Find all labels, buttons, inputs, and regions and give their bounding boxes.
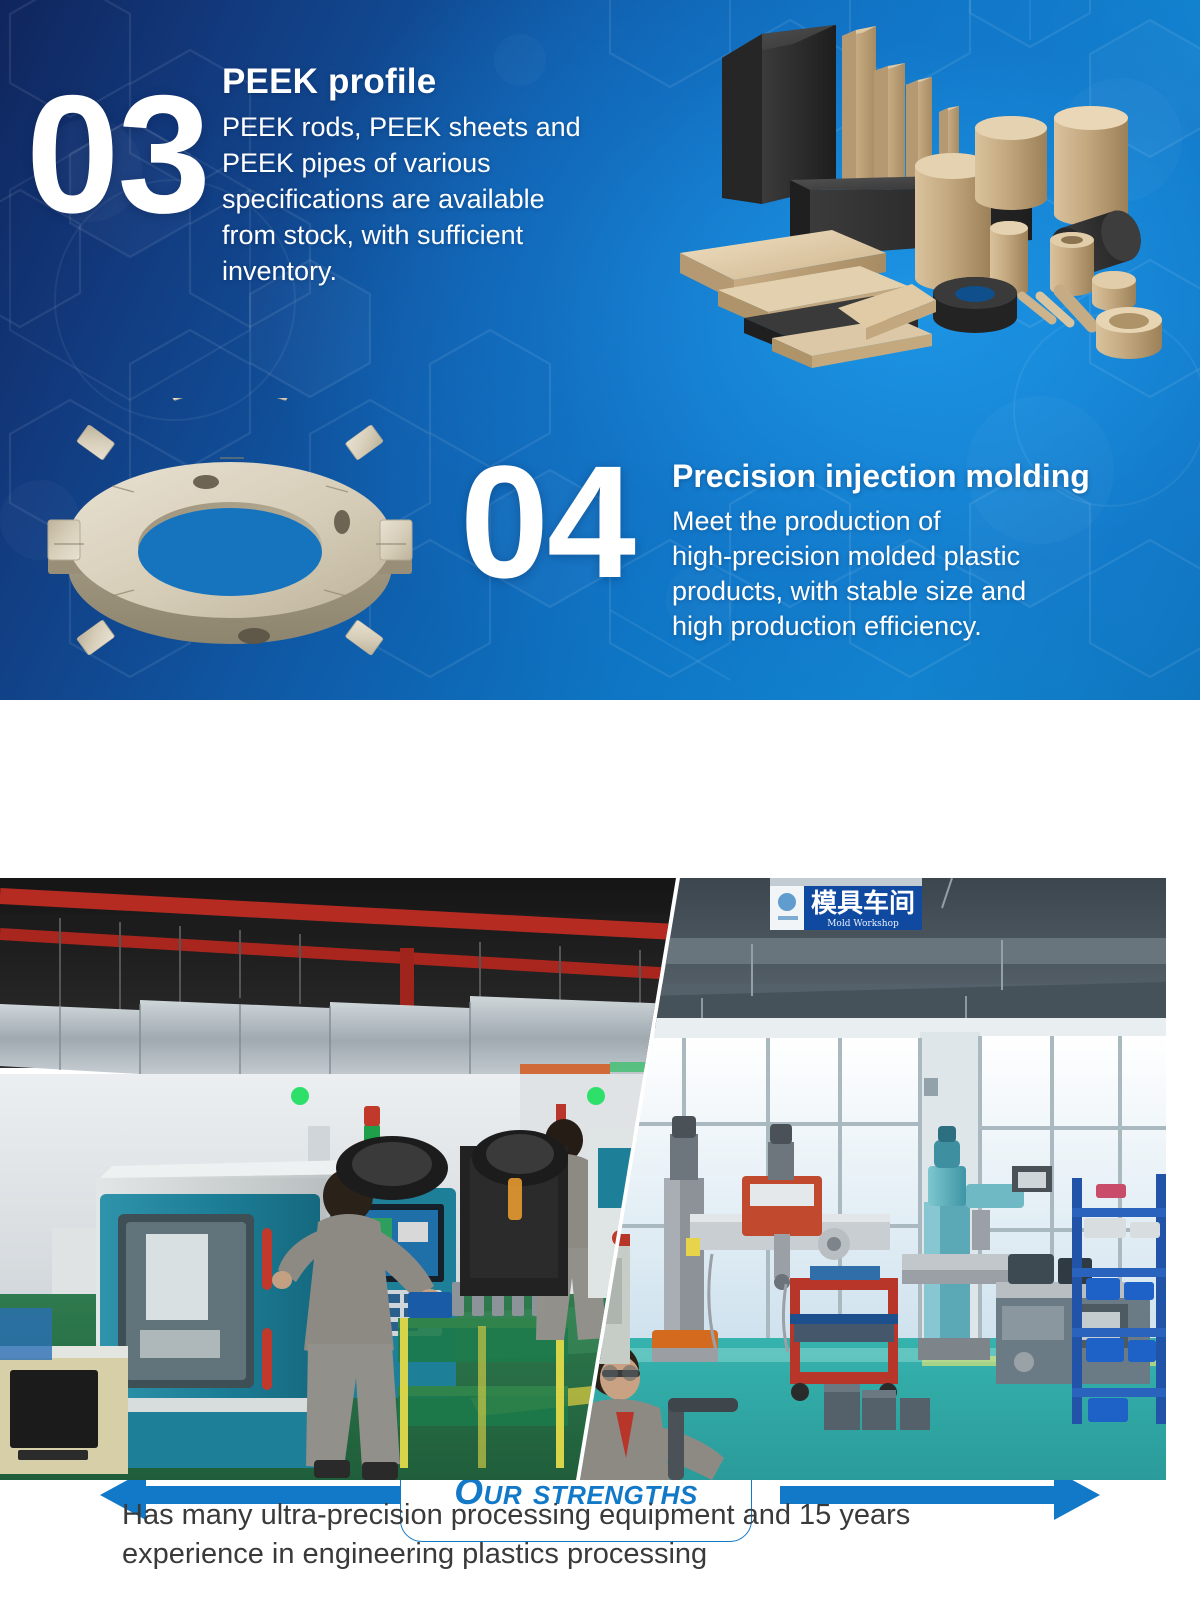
body-line: specifications are available [222, 182, 652, 218]
photo-cnc-machining-workshop [0, 878, 676, 1480]
feature-title-04: Precision injection molding [672, 458, 1090, 495]
feature-body-03: PEEK rods, PEEK sheets and PEEK pipes of… [222, 110, 652, 290]
peek-stock-products-image [660, 8, 1200, 368]
caption-line: experience in engineering plastics proce… [122, 1535, 1102, 1574]
body-line: Meet the production of [672, 504, 1152, 539]
feature-item-03: 03 PEEK profile PEEK rods, PEEK sheets a… [0, 62, 660, 352]
strengths-caption: Has many ultra-precision processing equi… [122, 1496, 1102, 1573]
body-line: high production efficiency. [672, 609, 1152, 644]
mold-workshop-sign: 模具车间 Mold Workshop [770, 878, 922, 930]
body-line: from stock, with sufficient [222, 218, 652, 254]
body-line: PEEK pipes of various [222, 146, 652, 182]
body-line: high-precision molded plastic [672, 539, 1152, 574]
svg-text:Mold Workshop: Mold Workshop [827, 919, 899, 929]
infographic-page: 03 PEEK profile PEEK rods, PEEK sheets a… [0, 0, 1200, 1616]
body-line: products, with stable size and [672, 574, 1152, 609]
feature-title-03: PEEK profile [222, 62, 436, 102]
our-strengths-banner: Our strengths [0, 700, 1200, 878]
peek-gear-ring-image [34, 398, 426, 678]
feature-number-04: 04 [460, 442, 634, 602]
caption-line: Has many ultra-precision processing equi… [122, 1496, 1102, 1535]
feature-body-04: Meet the production of high-precision mo… [672, 504, 1152, 644]
feature-number-03: 03 [26, 70, 209, 238]
svg-text:模具车间: 模具车间 [811, 888, 915, 919]
feature-item-04: 04 Precision injection molding Meet the … [440, 430, 1160, 660]
blue-feature-panel: 03 PEEK profile PEEK rods, PEEK sheets a… [0, 0, 1200, 700]
body-line: inventory. [222, 254, 652, 290]
workshop-photo-strip: 模具车间 Mold Workshop [0, 878, 1166, 1480]
photo-mold-workshop: 模具车间 Mold Workshop [572, 878, 1166, 1480]
body-line: PEEK rods, PEEK sheets and [222, 110, 652, 146]
